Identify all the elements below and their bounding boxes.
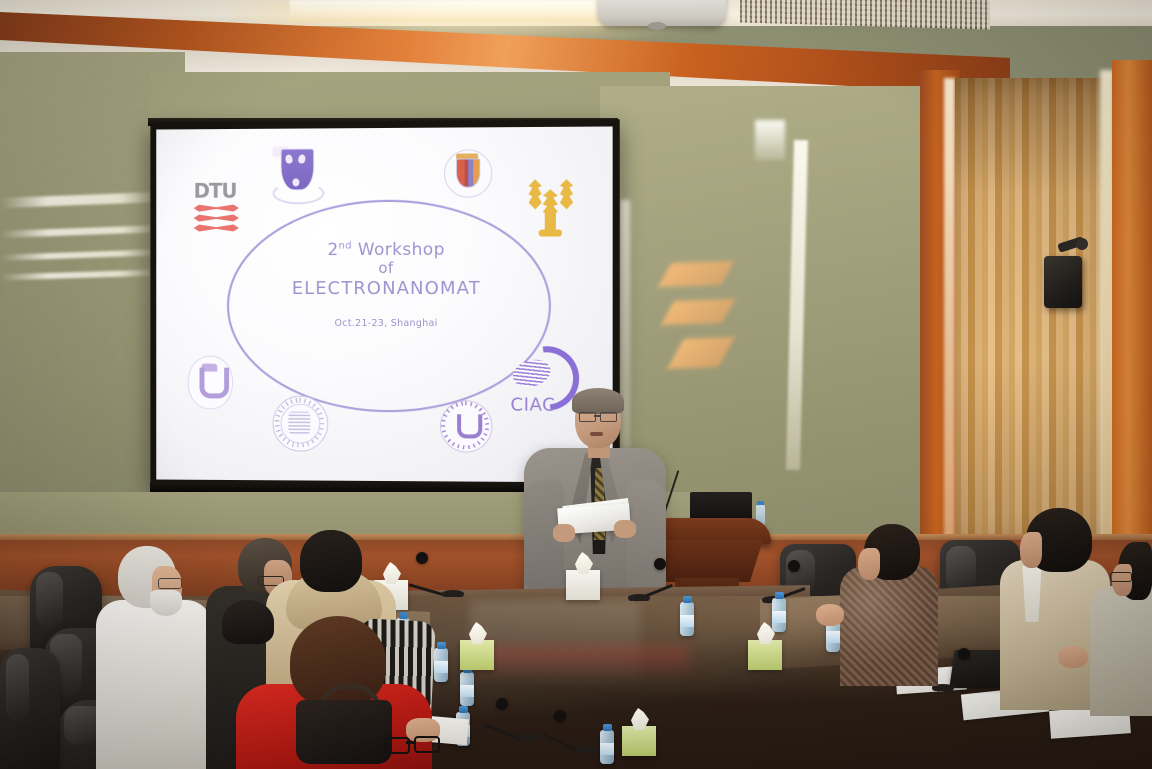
ceiling-light-fixture bbox=[290, 0, 620, 22]
slide-title-line2: of bbox=[227, 260, 547, 278]
university-u-logo bbox=[188, 356, 233, 412]
attendee-patterned-jacket-woman-hand bbox=[816, 604, 844, 626]
conference-room-photo: 2nd Workshop of ELECTRONANOMAT Oct.21-23… bbox=[0, 0, 1152, 769]
slide-title-line3: ELECTRONANOMAT bbox=[227, 278, 547, 299]
university-u2-logo bbox=[440, 400, 494, 454]
presenter-mouth bbox=[590, 432, 603, 436]
eyeglasses-on-table bbox=[384, 736, 442, 752]
attendee-patterned-jacket-woman-body bbox=[840, 566, 938, 686]
curtain-edge-light bbox=[944, 78, 955, 548]
slide-ellipse-graphic bbox=[227, 199, 551, 412]
golden-tree-logo bbox=[527, 175, 582, 238]
water-bottle bbox=[772, 598, 786, 632]
speaker-mount-plate bbox=[1076, 238, 1088, 250]
water-bottle bbox=[434, 648, 448, 682]
projector-lens-icon bbox=[648, 22, 666, 30]
tissue-box bbox=[622, 726, 656, 756]
attendee-white-haired-man-body bbox=[96, 600, 212, 769]
ciac-logo-label: CIAC bbox=[510, 394, 577, 415]
attendee-glasses-woman-body bbox=[1090, 586, 1152, 716]
university-seal-logo bbox=[273, 396, 331, 454]
water-bottle bbox=[460, 672, 474, 706]
presenter-right-hand bbox=[614, 520, 636, 538]
tissue-box bbox=[566, 570, 600, 600]
tissue-box bbox=[460, 640, 494, 670]
wall-right-wood-edge bbox=[1112, 60, 1152, 580]
attendee-glasses-woman-hand bbox=[1058, 646, 1088, 668]
projection-screen: 2nd Workshop of ELECTRONANOMAT Oct.21-23… bbox=[150, 119, 619, 492]
table-microphone bbox=[762, 562, 769, 602]
handbag bbox=[296, 700, 392, 764]
attendee-beige-jacket-person-head bbox=[300, 530, 362, 592]
university-shield-logo bbox=[273, 146, 323, 208]
table-microphone bbox=[420, 556, 449, 596]
presenter-glasses-left-lens bbox=[579, 412, 596, 422]
attendee-glasses-woman-glasses bbox=[1110, 572, 1132, 582]
conference-chair bbox=[0, 648, 60, 769]
coat-of-arms-logo bbox=[444, 149, 494, 199]
attendee-white-haired-man-beard bbox=[150, 590, 182, 616]
presenter-glasses-bridge bbox=[594, 415, 601, 417]
slide-title-block: 2nd Workshop of ELECTRONANOMAT bbox=[227, 240, 547, 299]
slide-date-location: Oct.21-23, Shanghai bbox=[227, 318, 547, 329]
dtu-logo: DTU bbox=[194, 181, 245, 239]
table-microphone bbox=[628, 560, 637, 600]
presenter-glasses-right-lens bbox=[600, 412, 617, 422]
attendee-beige-blazer-man-face bbox=[1020, 532, 1042, 568]
slide-title-line1: 2nd Workshop bbox=[227, 240, 547, 261]
presenter-left-hand bbox=[553, 524, 575, 542]
presenter-hair bbox=[572, 388, 624, 414]
attendee-dark-hair-person-head bbox=[222, 600, 274, 644]
table-microphone bbox=[556, 712, 581, 752]
dtu-logo-label: DTU bbox=[194, 181, 245, 201]
attendee-white-haired-man-glasses bbox=[158, 578, 182, 589]
water-bottle bbox=[600, 730, 614, 764]
podium-body bbox=[653, 540, 763, 582]
attendee-patterned-jacket-woman-face bbox=[858, 548, 880, 580]
dtu-logo-bars bbox=[194, 205, 245, 232]
curtain-shading bbox=[955, 78, 1115, 548]
ciac-logo: CIAC bbox=[506, 346, 577, 423]
wall-light-reflection bbox=[620, 200, 630, 450]
wall-light-reflection bbox=[755, 120, 785, 160]
tissue-box bbox=[748, 640, 782, 670]
table-microphone bbox=[498, 700, 523, 740]
wall-mounted-speaker bbox=[1044, 256, 1082, 308]
water-bottle bbox=[680, 602, 694, 636]
projection-screen-surface: 2nd Workshop of ELECTRONANOMAT Oct.21-23… bbox=[156, 126, 612, 482]
